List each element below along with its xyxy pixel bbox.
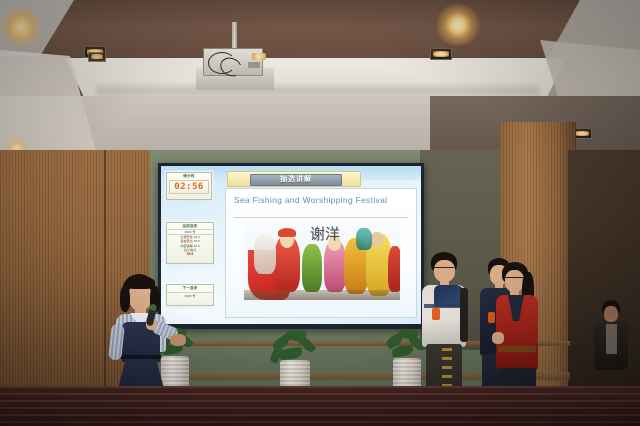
downlight-right-icon <box>430 48 452 60</box>
woman-belt <box>498 346 536 352</box>
timer-label: 倒计时 <box>167 173 211 179</box>
projector-vent <box>248 62 260 68</box>
presenter-hand-gesture <box>170 334 186 346</box>
boy-badge <box>432 308 440 320</box>
fig-teal-accent <box>356 228 372 250</box>
banner-plate: 抽选讲解 <box>250 174 342 186</box>
fig-ground <box>244 290 400 300</box>
downlight-center-left-icon <box>88 52 106 62</box>
total-value: 69.5 <box>167 252 213 257</box>
fig-red-accent-r <box>388 246 400 292</box>
presentation-hall-photo: 抽选讲解 倒计时 02:56 当前选手 0000 号 仪表形象 20.0 语言表… <box>0 0 640 426</box>
presenter-hair-side-l <box>120 286 130 312</box>
spotlight-far-left-icon <box>0 8 44 46</box>
slide-area: Sea Fishing and Worshipping Festival 谢洋 <box>225 188 417 318</box>
current-player-panel: 当前选手 0000 号 仪表形象 20.0 语言表达 25.5 内容讲解 24.… <box>166 222 214 264</box>
observer-shirt <box>606 324 617 354</box>
spotlight-right-icon <box>434 4 482 46</box>
slide-title: Sea Fishing and Worshipping Festival <box>234 195 410 205</box>
calligraphy-text: 谢洋 <box>310 228 340 241</box>
timer-panel: 倒计时 02:56 <box>166 172 212 200</box>
boy-jacket-stripe <box>424 304 464 308</box>
banner-title: 抽选讲解 <box>251 175 341 185</box>
fig-head-c <box>370 232 384 247</box>
fig-white-costume <box>254 234 276 274</box>
projector-lens-icon <box>252 53 266 60</box>
woman-glasses-icon <box>505 277 523 282</box>
projection-screen[interactable]: 抽选讲解 倒计时 02:56 当前选手 0000 号 仪表形象 20.0 语言表… <box>161 166 421 324</box>
floor-carpet <box>0 386 640 426</box>
fig-hat-a <box>278 228 296 237</box>
projector-mount-pole <box>232 22 237 48</box>
timer-value: 02:56 <box>169 180 209 194</box>
boy-glasses-icon <box>434 267 454 272</box>
banner-bar: 抽选讲解 <box>227 171 361 187</box>
boy-backpack-strap <box>460 288 468 342</box>
slide-divider <box>234 217 408 218</box>
presenter-belt <box>121 355 161 359</box>
woman-hand <box>492 332 504 344</box>
slide-image: 谢洋 <box>244 222 400 300</box>
presenter-bangs <box>125 276 155 289</box>
fig-green-costume <box>302 244 322 292</box>
seated-observer <box>592 300 632 386</box>
ceiling-shadow <box>96 86 540 96</box>
observer-face <box>604 306 618 322</box>
